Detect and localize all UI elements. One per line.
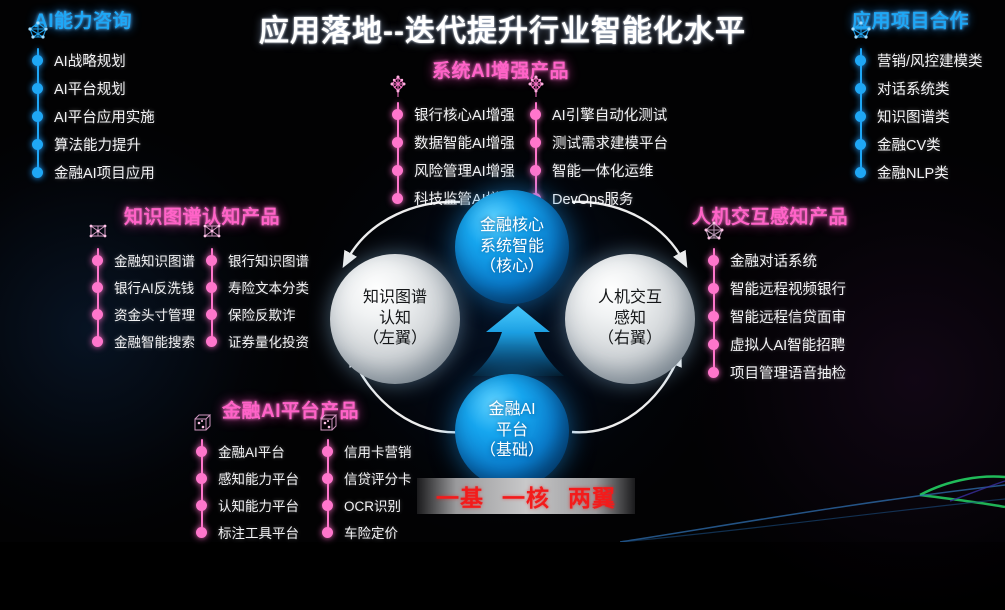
list-item-label: 虚拟人AI智能招聘	[730, 334, 845, 355]
sphere-foundation[interactable]: 金融AI 平台 （基础）	[455, 374, 569, 488]
bullet-dot	[32, 167, 43, 178]
list-item-label: 营销/风控建模类	[877, 50, 983, 71]
bullet-dot	[196, 527, 207, 538]
sphere-right-wing[interactable]: 人机交互 感知 （右翼）	[565, 254, 695, 384]
sphere-left-line-1: 知识图谱	[363, 288, 427, 308]
network-node-icon	[846, 19, 876, 49]
list-item[interactable]: 金融智能搜索	[92, 327, 195, 354]
sphere-right-line-1: 人机交互	[598, 288, 662, 308]
list-item-label: 金融对话系统	[730, 250, 817, 271]
list-item-label: 感知能力平台	[218, 468, 299, 488]
bullet-dot	[92, 255, 103, 266]
bullet-dot	[92, 309, 103, 320]
list-item[interactable]: 银行核心AI增强	[392, 100, 515, 128]
sphere-left-line-3: （左翼）	[363, 329, 427, 349]
bullet-dot	[392, 165, 403, 176]
list-item-label: AI引擎自动化测试	[552, 104, 667, 125]
sphere-core-line-2: 系统智能	[480, 237, 544, 257]
diamond-node-icon	[383, 73, 413, 103]
list-hci-perception: 金融对话系统 智能远程视频银行 智能远程信贷面审 虚拟人AI智能招聘 项目管理语…	[708, 246, 846, 386]
list-item[interactable]: 寿险文本分类	[206, 273, 309, 300]
bullet-dot	[32, 83, 43, 94]
bullet-dot	[196, 500, 207, 511]
list-item-label: AI战略规划	[54, 50, 126, 71]
bullet-dot	[530, 109, 541, 120]
list-item-label: 寿险文本分类	[228, 277, 309, 297]
list-item[interactable]: AI平台应用实施	[32, 102, 155, 130]
list-item-label: 对话系统类	[877, 78, 950, 99]
list-item[interactable]: 金融对话系统	[708, 246, 846, 274]
sphere-right-line-3: （右翼）	[598, 329, 662, 349]
sphere-bottom-line-2: 平台	[496, 421, 528, 441]
bullet-dot	[855, 111, 866, 122]
bullet-dot	[392, 109, 403, 120]
list-item[interactable]: 对话系统类	[855, 74, 983, 102]
sphere-core[interactable]: 金融核心 系统智能 （核心）	[455, 190, 569, 304]
list-item[interactable]: 认知能力平台	[196, 491, 299, 518]
sphere-core-line-1: 金融核心	[480, 216, 544, 236]
bullet-dot	[206, 336, 217, 347]
list-item-label: 金融知识图谱	[114, 250, 195, 270]
list-item-label: 金融CV类	[877, 134, 941, 155]
list-item-label: 智能一体化运维	[552, 160, 654, 181]
bullet-dot	[196, 446, 207, 457]
decorative-ribbon-lines	[620, 455, 1005, 542]
slogan: 一基 一核 两翼	[417, 478, 635, 514]
list-item-label: 金融智能搜索	[114, 331, 195, 351]
list-item[interactable]: 金融NLP类	[855, 158, 983, 186]
slogan-part-1: 一基	[436, 479, 484, 513]
sphere-left-line-2: 认知	[379, 309, 411, 329]
list-item-label: 银行AI反洗钱	[114, 277, 194, 297]
bullet-dot	[322, 527, 333, 538]
bullet-dot	[32, 139, 43, 150]
list-item[interactable]: 资金头寸管理	[92, 300, 195, 327]
bullet-dot	[530, 137, 541, 148]
bullet-dot	[392, 137, 403, 148]
list-item[interactable]: 金融知识图谱	[92, 246, 195, 273]
list-item-label: 银行知识图谱	[228, 250, 309, 270]
list-item-label: 标注工具平台	[218, 522, 299, 542]
bullet-dot	[206, 282, 217, 293]
list-item-label: 银行核心AI增强	[414, 104, 515, 125]
list-item-label: 金融AI项目应用	[54, 162, 155, 183]
bullet-dot	[92, 336, 103, 347]
list-item-label: AI平台规划	[54, 78, 126, 99]
bullet-dot	[855, 55, 866, 66]
list-item-label: 保险反欺诈	[228, 304, 296, 324]
list-item[interactable]: 算法能力提升	[32, 130, 155, 158]
bullet-dot	[855, 139, 866, 150]
list-item-label: 智能远程信贷面审	[730, 306, 846, 327]
sphere-bottom-line-1: 金融AI	[488, 400, 535, 420]
sphere-bottom-line-3: （基础）	[480, 441, 544, 461]
list-item-label: 金融AI平台	[218, 441, 285, 461]
list-knowledge-graph-right: 银行知识图谱 寿险文本分类 保险反欺诈 证券量化投资	[206, 246, 309, 354]
bullet-dot	[530, 165, 541, 176]
list-item[interactable]: 测试需求建模平台	[530, 128, 668, 156]
list-item[interactable]: 营销/风控建模类	[855, 46, 983, 74]
list-item-label: 资金头寸管理	[114, 304, 195, 324]
network-node-icon	[23, 19, 53, 49]
list-project-cooperation: 营销/风控建模类 对话系统类 知识图谱类 金融CV类 金融NLP类	[855, 46, 983, 186]
graph-node-icon	[83, 219, 113, 249]
bullet-dot	[855, 83, 866, 94]
bullet-dot	[32, 111, 43, 122]
bullet-dot	[196, 473, 207, 484]
cube-icon	[187, 410, 217, 440]
list-item-label: 测试需求建模平台	[552, 132, 668, 153]
list-item-label: 证券量化投资	[228, 331, 309, 351]
sphere-core-line-3: （核心）	[480, 257, 544, 277]
bullet-dot	[206, 255, 217, 266]
bullet-dot	[92, 282, 103, 293]
list-item[interactable]: 车险定价	[322, 518, 412, 545]
slide-canvas: 应用落地--迭代提升行业智能化水平 AI能力咨询 AI战略规划 AI平台规划 A…	[0, 0, 1005, 542]
bullet-dot	[32, 55, 43, 66]
list-item-label: AI平台应用实施	[54, 106, 155, 127]
diamond-node-icon	[521, 73, 551, 103]
list-item[interactable]: 金融CV类	[855, 130, 983, 158]
up-arrow-icon	[468, 304, 568, 380]
list-item[interactable]: 知识图谱类	[855, 102, 983, 130]
list-item[interactable]: 证券量化投资	[206, 327, 309, 354]
list-item[interactable]: 虚拟人AI智能招聘	[708, 330, 846, 358]
list-item-label: 认知能力平台	[218, 495, 299, 515]
list-item[interactable]: 标注工具平台	[196, 518, 299, 545]
list-item-label: 车险定价	[344, 522, 398, 542]
list-item[interactable]: 保险反欺诈	[206, 300, 309, 327]
list-ai-consulting: AI战略规划 AI平台规划 AI平台应用实施 算法能力提升 金融AI项目应用	[32, 46, 155, 186]
list-item[interactable]: 智能远程视频银行	[708, 274, 846, 302]
list-item[interactable]: 银行AI反洗钱	[92, 273, 195, 300]
sphere-right-line-2: 感知	[614, 309, 646, 329]
list-item[interactable]: 智能远程信贷面审	[708, 302, 846, 330]
list-item-label: 金融NLP类	[877, 162, 949, 183]
list-item[interactable]: 金融AI项目应用	[32, 158, 155, 186]
slogan-part-3: 两翼	[568, 479, 616, 513]
list-item-label: 项目管理语音抽检	[730, 362, 846, 383]
list-item[interactable]: AI战略规划	[32, 46, 155, 74]
list-finance-ai-platform-left: 金融AI平台 感知能力平台 认知能力平台 标注工具平台	[196, 437, 299, 545]
list-item-label: 知识图谱类	[877, 106, 950, 127]
list-item[interactable]: 金融AI平台	[196, 437, 299, 464]
list-item-label: 智能远程视频银行	[730, 278, 846, 299]
list-item[interactable]: 感知能力平台	[196, 464, 299, 491]
list-item[interactable]: 数据智能AI增强	[392, 128, 515, 156]
list-item[interactable]: AI平台规划	[32, 74, 155, 102]
bullet-dot	[855, 167, 866, 178]
graph-node-icon	[197, 219, 227, 249]
list-item-label: 算法能力提升	[54, 134, 141, 155]
list-knowledge-graph-left: 金融知识图谱 银行AI反洗钱 资金头寸管理 金融智能搜索	[92, 246, 195, 354]
list-item[interactable]: 银行知识图谱	[206, 246, 309, 273]
list-item[interactable]: AI引擎自动化测试	[530, 100, 668, 128]
list-item-label: 数据智能AI增强	[414, 132, 515, 153]
sphere-left-wing[interactable]: 知识图谱 认知 （左翼）	[330, 254, 460, 384]
slogan-part-2: 一核	[502, 479, 550, 513]
list-item[interactable]: 项目管理语音抽检	[708, 358, 846, 386]
list-item-label: 风险管理AI增强	[414, 160, 515, 181]
bullet-dot	[206, 309, 217, 320]
